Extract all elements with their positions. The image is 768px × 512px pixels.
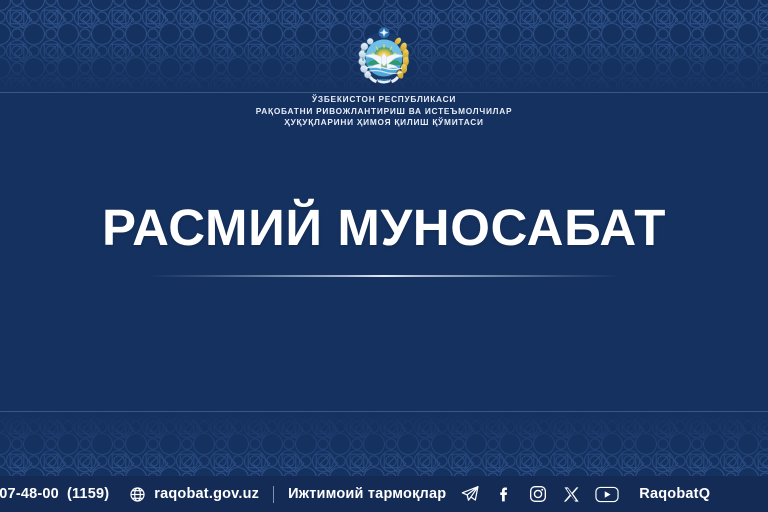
website-link[interactable]: raqobat.gov.uz (154, 486, 259, 502)
phone-extension: (1159) (67, 486, 109, 502)
social-networks-label: Ижтимоий тармоқлар (288, 486, 446, 502)
uzbekistan-coat-of-arms-icon (353, 27, 415, 87)
org-line-1: ЎЗБЕКИСТОН РЕСПУБЛИКАСИ (256, 94, 513, 106)
header: ЎЗБЕКИСТОН РЕСПУБЛИКАСИ РАҚОБАТНИ РИВОЖЛ… (0, 0, 768, 136)
org-line-2: РАҚОБАТНИ РИВОЖЛАНТИРИШ ВА ИСТЕЪМОЛЧИЛАР (256, 106, 513, 118)
title-underline (149, 275, 619, 277)
footer-separator (273, 486, 274, 503)
telegram-icon[interactable] (460, 484, 480, 504)
announcement-card: ЎЗБЕКИСТОН РЕСПУБЛИКАСИ РАҚОБАТНИ РИВОЖЛ… (0, 0, 768, 512)
org-line-3: ҲУҚУҚЛАРИНИ ҲИМОЯ ҚИЛИШ ҚЎМИТАСИ (256, 117, 513, 129)
brand-handle[interactable]: RaqobatQ (639, 486, 710, 502)
organization-name: ЎЗБЕКИСТОН РЕСПУБЛИКАСИ РАҚОБАТНИ РИВОЖЛ… (256, 94, 513, 129)
divider-bottom (0, 411, 768, 412)
globe-icon (129, 486, 146, 503)
main-content: РАСМИЙ МУНОСАБАТ (0, 198, 768, 277)
youtube-icon[interactable] (595, 485, 619, 504)
instagram-icon[interactable] (528, 484, 548, 504)
page-title: РАСМИЙ МУНОСАБАТ (102, 198, 666, 258)
facebook-icon[interactable] (494, 484, 514, 504)
footer-bar: -207-48-00 (1159) raqobat.gov.uz Ижтимои… (0, 476, 768, 512)
x-twitter-icon[interactable] (562, 485, 581, 504)
phone-number[interactable]: -207-48-00 (0, 486, 59, 502)
